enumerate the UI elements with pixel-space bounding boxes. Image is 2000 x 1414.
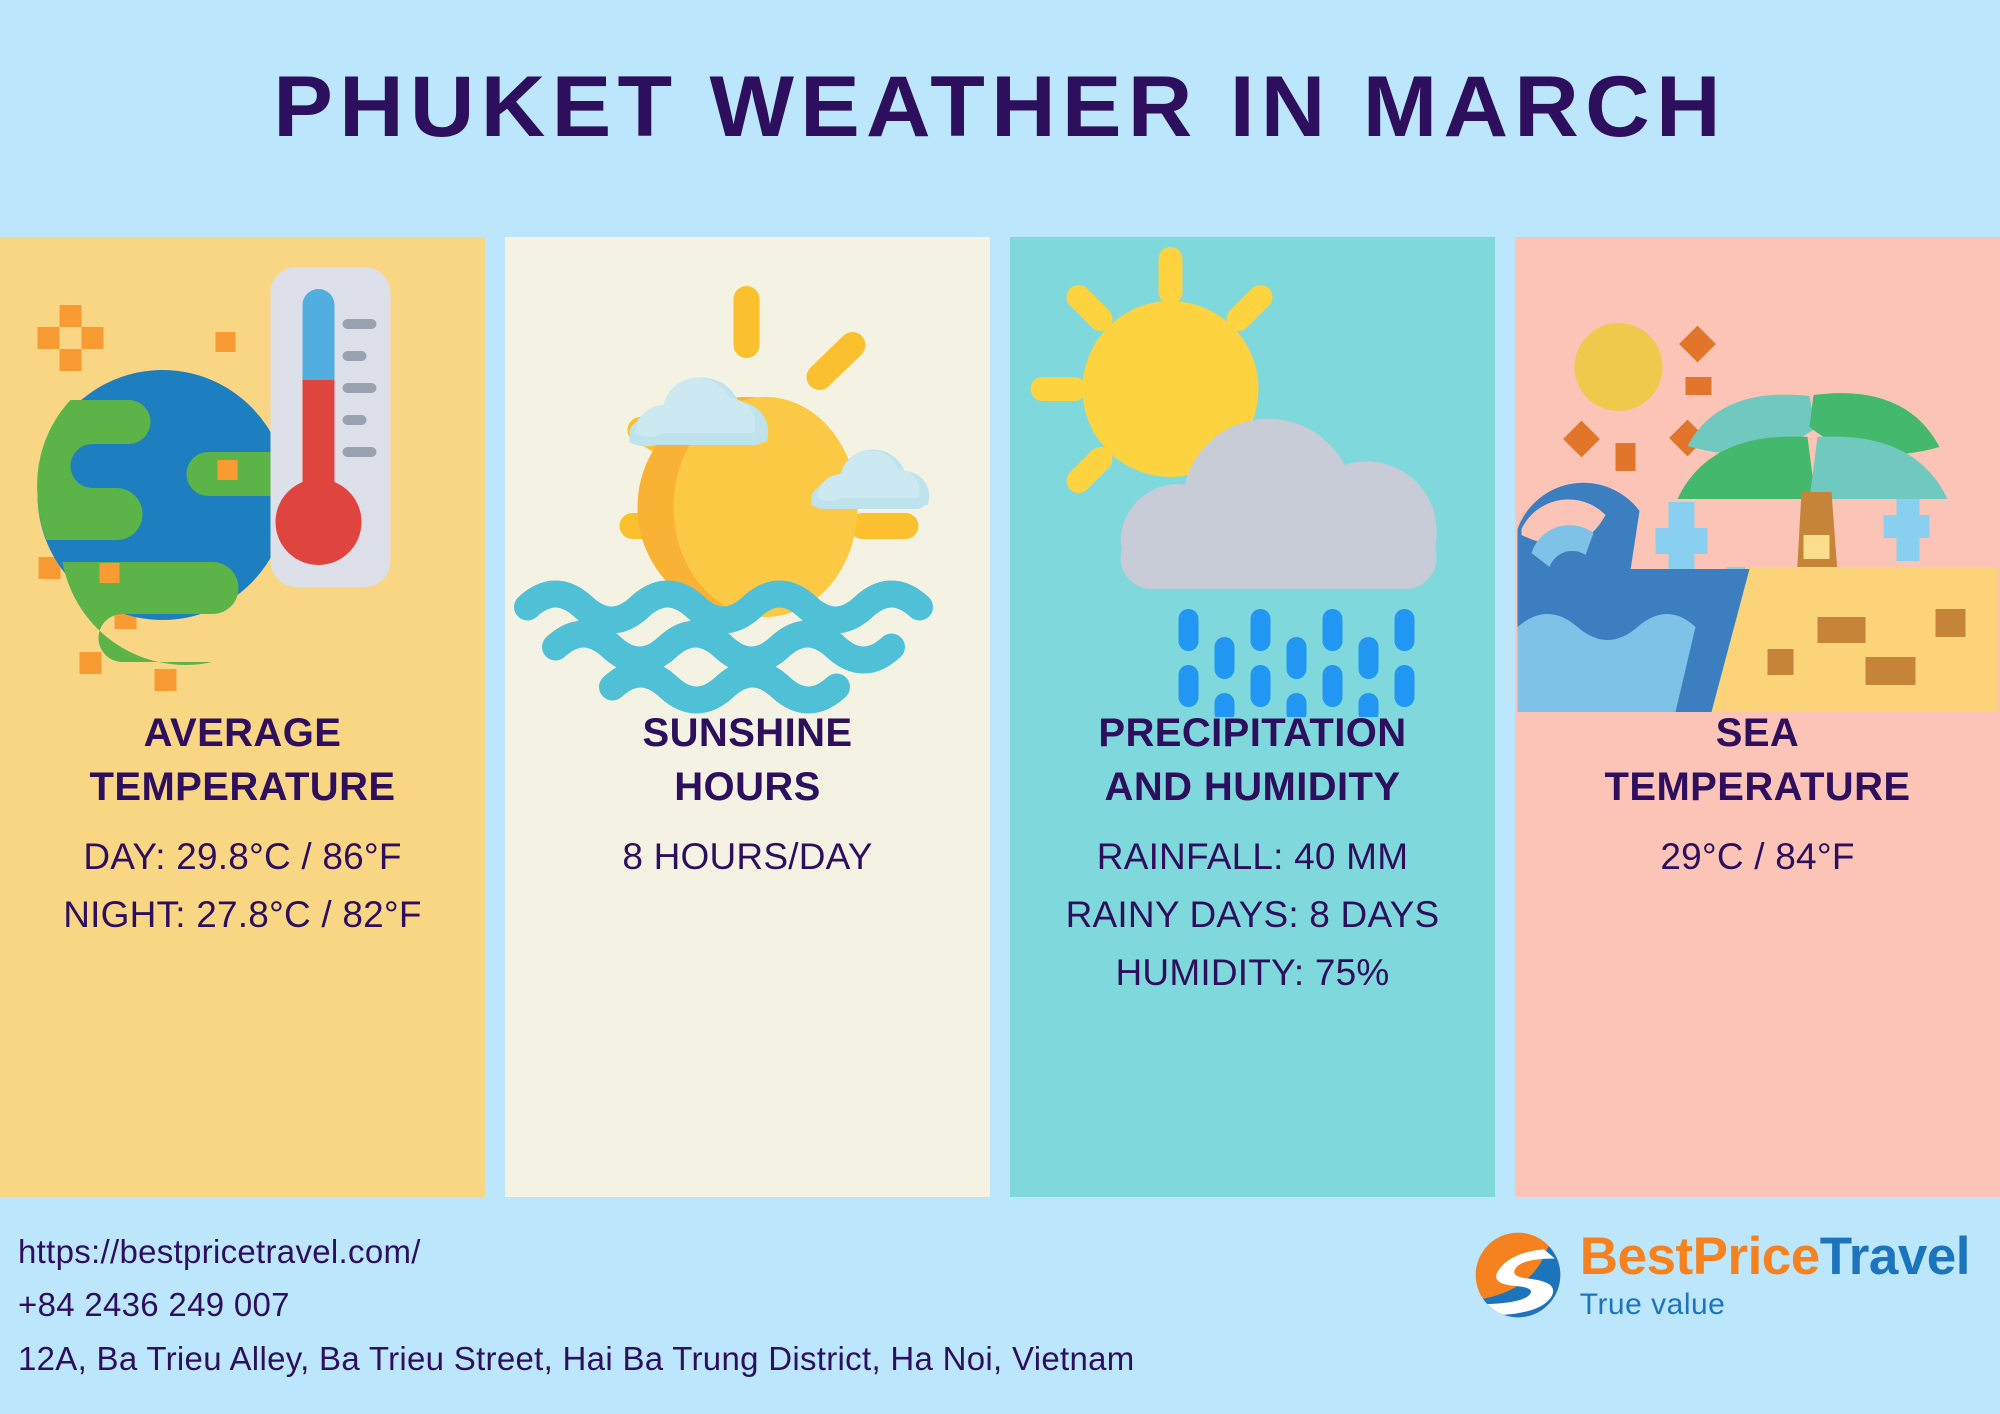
card-heading: SEA TEMPERATURE bbox=[1515, 707, 2000, 814]
card-text-sunshine-hours: SUNSHINE HOURS 8 HOURS/DAY bbox=[505, 707, 990, 884]
card-text-precipitation-and-humidity: PRECIPITATION AND HUMIDITY RAINFALL: 40 … bbox=[1010, 707, 1495, 1000]
bestprice-swoosh-icon bbox=[1472, 1229, 1564, 1321]
logo-word-bestprice: BestPrice bbox=[1580, 1227, 1820, 1286]
logo-word-travel: Travel bbox=[1820, 1227, 1970, 1286]
stat-rainy-days: RAINY DAYS: 8 DAYS bbox=[1010, 888, 1495, 942]
website-link[interactable]: https://bestpricetravel.com/ bbox=[18, 1225, 1135, 1278]
office-address: 12A, Ba Trieu Alley, Ba Trieu Street, Ha… bbox=[18, 1332, 1135, 1385]
stat-day-temperature: DAY: 29.8°C / 86°F bbox=[0, 830, 485, 884]
card-text-sea-temperature: SEA TEMPERATURE 29°C / 84°F bbox=[1515, 707, 2000, 884]
card-heading: PRECIPITATION AND HUMIDITY bbox=[1010, 707, 1495, 814]
card-heading: SUNSHINE HOURS bbox=[505, 707, 990, 814]
card-heading: AVERAGE TEMPERATURE bbox=[0, 707, 485, 814]
bestprice-travel-logo[interactable]: BestPriceTravel True value bbox=[1472, 1229, 1970, 1321]
phone-number[interactable]: +84 2436 249 007 bbox=[18, 1278, 1135, 1331]
card-sea-temperature: SEA TEMPERATURE 29°C / 84°F bbox=[1515, 237, 2000, 1197]
rain-cloud-sun-icon bbox=[1010, 237, 1495, 717]
stat-night-temperature: NIGHT: 27.8°C / 82°F bbox=[0, 888, 485, 942]
page-title: PHUKET WEATHER IN MARCH bbox=[0, 58, 2000, 157]
beach-palm-wave-icon bbox=[1515, 237, 2000, 717]
logo-tagline: True value bbox=[1580, 1290, 1970, 1320]
sun-sea-icon bbox=[505, 237, 990, 717]
stat-sunshine-hours: 8 HOURS/DAY bbox=[505, 830, 990, 884]
contact-details: https://bestpricetravel.com/ +84 2436 24… bbox=[18, 1225, 1135, 1385]
card-sunshine-hours: SUNSHINE HOURS 8 HOURS/DAY bbox=[505, 237, 990, 1197]
stat-rainfall: RAINFALL: 40 MM bbox=[1010, 830, 1495, 884]
stat-sea-temperature: 29°C / 84°F bbox=[1515, 830, 2000, 884]
stat-humidity: HUMIDITY: 75% bbox=[1010, 946, 1495, 1000]
globe-thermometer-icon bbox=[0, 237, 485, 717]
footer: https://bestpricetravel.com/ +84 2436 24… bbox=[0, 1197, 2000, 1414]
card-precipitation-and-humidity: PRECIPITATION AND HUMIDITY RAINFALL: 40 … bbox=[1010, 237, 1495, 1197]
logo-word: BestPriceTravel bbox=[1580, 1227, 1970, 1286]
logo-wordmark: BestPriceTravel True value bbox=[1580, 1230, 1970, 1320]
card-average-temperature: AVERAGE TEMPERATURE DAY: 29.8°C / 86°F N… bbox=[0, 237, 485, 1197]
weather-card-row: AVERAGE TEMPERATURE DAY: 29.8°C / 86°F N… bbox=[0, 237, 2000, 1197]
card-text-average-temperature: AVERAGE TEMPERATURE DAY: 29.8°C / 86°F N… bbox=[0, 707, 485, 942]
